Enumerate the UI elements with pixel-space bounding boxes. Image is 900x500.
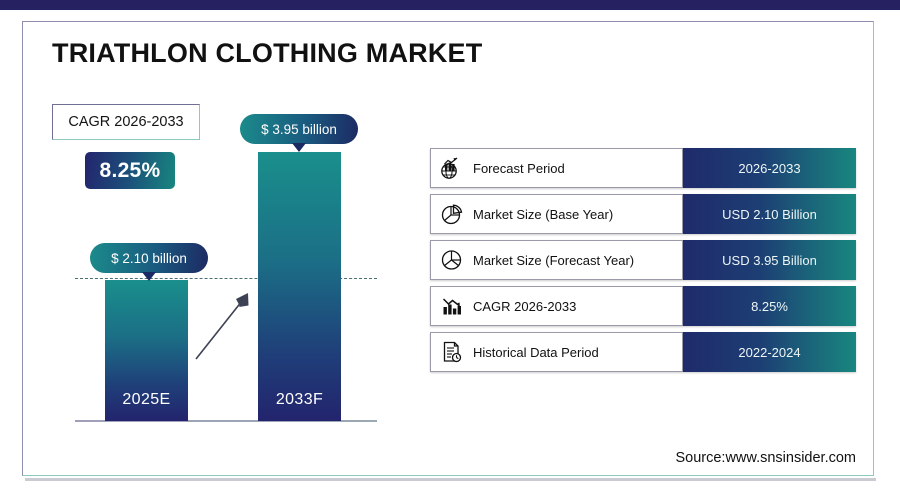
value-pill-2033f-text: $ 3.95 billion bbox=[261, 122, 337, 137]
infographic-canvas: TRIATHLON CLOTHING MARKET CAGR 2026-2033… bbox=[0, 0, 900, 500]
kpi-row-label: Market Size (Forecast Year) bbox=[473, 253, 634, 268]
pie-chart-segments-icon bbox=[431, 247, 473, 273]
table-row: Historical Data Period 2022-2024 bbox=[430, 332, 856, 372]
table-row: Forecast Period 2026-2033 bbox=[430, 148, 856, 188]
kpi-row-label: Forecast Period bbox=[473, 161, 565, 176]
kpi-row-label-cell: Forecast Period bbox=[430, 148, 683, 188]
kpi-row-value-cell: USD 2.10 Billion bbox=[683, 194, 856, 234]
kpi-row-label-cell: Market Size (Forecast Year) bbox=[430, 240, 683, 280]
bar-2025e-label: 2025E bbox=[105, 391, 188, 409]
kpi-row-value-cell: USD 3.95 Billion bbox=[683, 240, 856, 280]
kpi-row-value: 2026-2033 bbox=[738, 161, 800, 176]
kpi-row-label: CAGR 2026-2033 bbox=[473, 299, 576, 314]
bar-chart: 2025E 2033F $ 2.10 billion $ 3.95 billio… bbox=[0, 0, 440, 500]
document-clock-icon bbox=[431, 339, 473, 365]
table-row: CAGR 2026-2033 8.25% bbox=[430, 286, 856, 326]
kpi-row-label-cell: Market Size (Base Year) bbox=[430, 194, 683, 234]
kpi-row-label: Market Size (Base Year) bbox=[473, 207, 613, 222]
value-pill-2033f: $ 3.95 billion bbox=[240, 114, 358, 144]
value-pill-2025e-text: $ 2.10 billion bbox=[111, 251, 187, 266]
kpi-row-value: 2022-2024 bbox=[738, 345, 800, 360]
kpi-row-value-cell: 2026-2033 bbox=[683, 148, 856, 188]
source-attribution: Source:www.snsinsider.com bbox=[675, 450, 856, 466]
kpi-row-value: 8.25% bbox=[751, 299, 788, 314]
pie-chart-exploded-icon bbox=[431, 201, 473, 227]
kpi-row-value: USD 2.10 Billion bbox=[722, 207, 817, 222]
table-row: Market Size (Forecast Year) USD 3.95 Bil… bbox=[430, 240, 856, 280]
bar-2033f-label: 2033F bbox=[258, 391, 341, 409]
kpi-row-label-cell: Historical Data Period bbox=[430, 332, 683, 372]
table-row: Market Size (Base Year) USD 2.10 Billion bbox=[430, 194, 856, 234]
kpi-table: Forecast Period 2026-2033 Market Size (B bbox=[430, 148, 856, 378]
globe-growth-chart-icon bbox=[431, 155, 473, 181]
kpi-row-label-cell: CAGR 2026-2033 bbox=[430, 286, 683, 326]
bar-chart-line-icon bbox=[431, 293, 473, 319]
kpi-row-value-cell: 8.25% bbox=[683, 286, 856, 326]
kpi-row-value-cell: 2022-2024 bbox=[683, 332, 856, 372]
bar-2033f-fill bbox=[258, 152, 341, 421]
growth-arrow-icon bbox=[190, 285, 260, 365]
kpi-row-value: USD 3.95 Billion bbox=[722, 253, 817, 268]
bar-2033f: 2033F bbox=[258, 152, 341, 421]
bar-2025e: 2025E bbox=[105, 280, 188, 421]
value-pill-2025e: $ 2.10 billion bbox=[90, 243, 208, 273]
kpi-row-label: Historical Data Period bbox=[473, 345, 599, 360]
